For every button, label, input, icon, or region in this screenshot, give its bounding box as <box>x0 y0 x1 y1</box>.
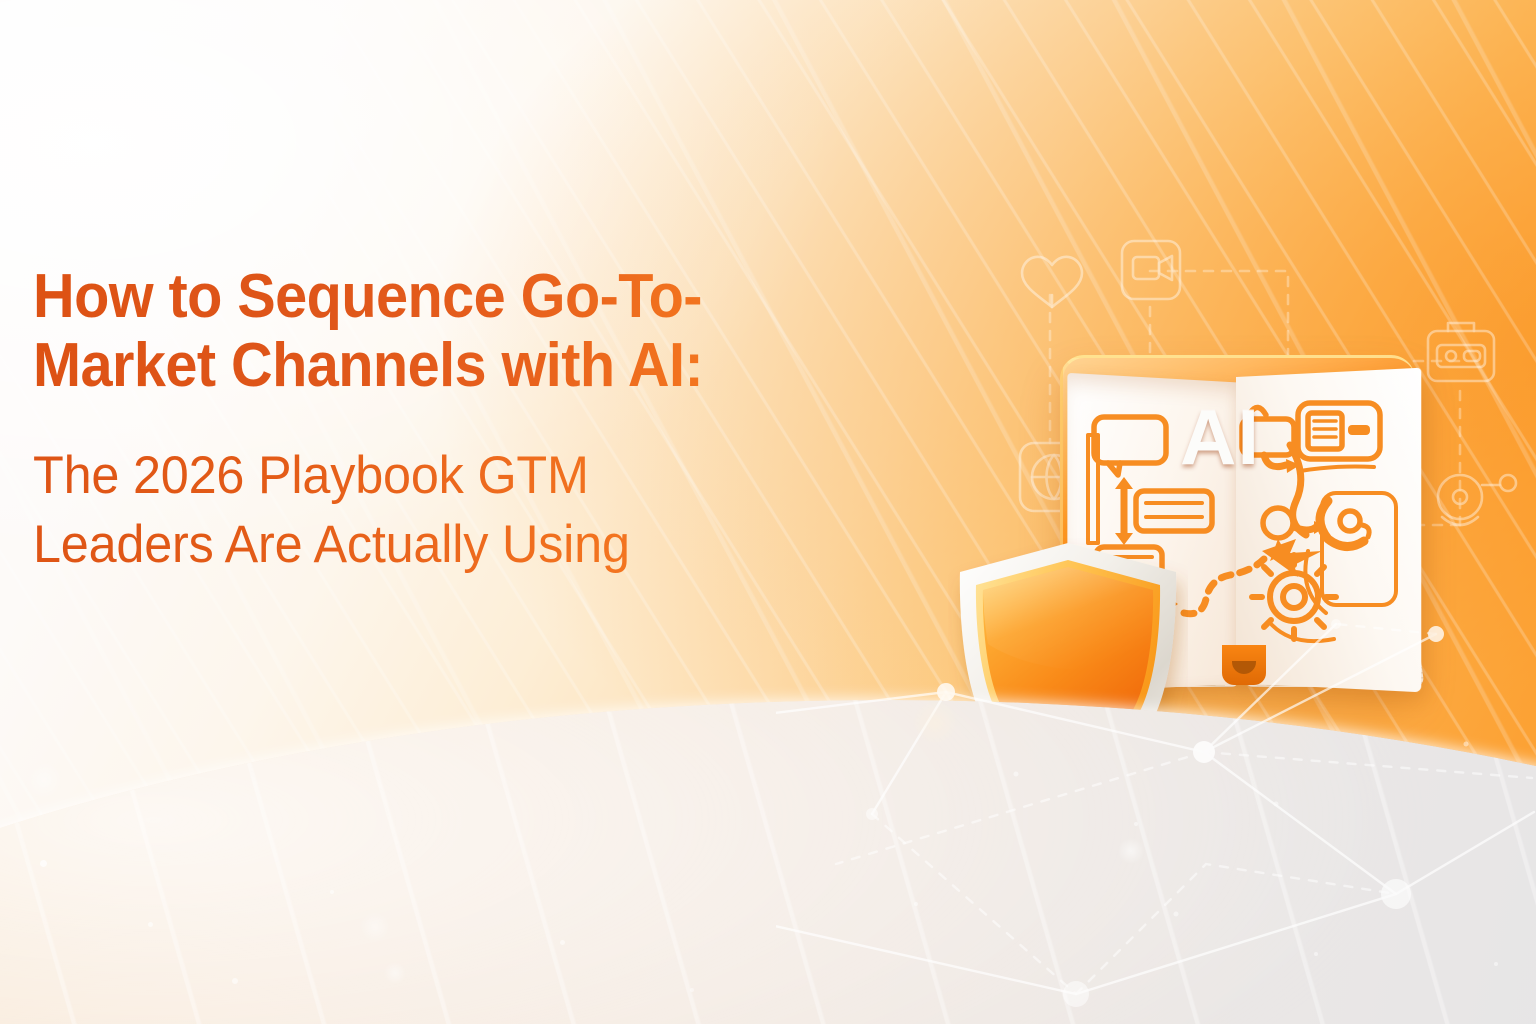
bokeh-speck <box>232 978 238 984</box>
bokeh-speck <box>148 922 153 927</box>
bokeh-speck <box>40 860 47 867</box>
bokeh-speck <box>912 700 958 746</box>
hero-banner: AI <box>0 0 1536 1024</box>
page-subtitle: The 2026 Playbook GTM Leaders Are Actual… <box>33 442 907 580</box>
bokeh-speck <box>384 962 406 984</box>
bokeh-speck <box>330 890 334 894</box>
bokeh-speck <box>1118 838 1144 864</box>
page-title: How to Sequence Go-To- Market Channels w… <box>33 262 889 400</box>
bokeh-speck <box>360 912 390 942</box>
bokeh-speck <box>560 940 565 945</box>
network-constellation <box>776 564 1536 1024</box>
bokeh-speck <box>690 988 694 992</box>
headline-block: How to Sequence Go-To- Market Channels w… <box>33 262 953 580</box>
bokeh-speck <box>24 760 64 800</box>
